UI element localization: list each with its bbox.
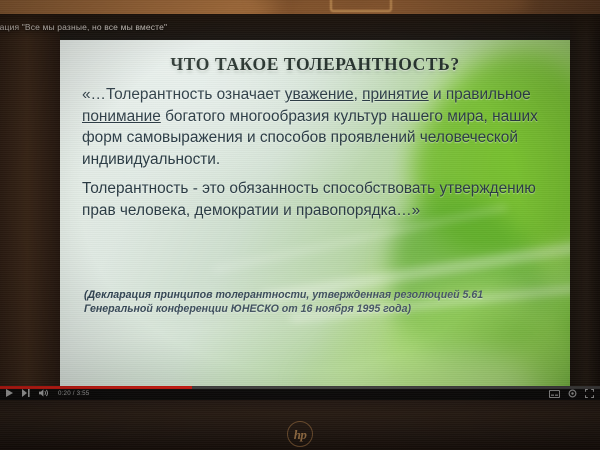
wall-frame (330, 0, 392, 12)
video-player: ЧТО ТАКОЕ ТОЛЕРАНТНОСТЬ? «…Толерантность… (0, 14, 600, 400)
video-title: ентация "Все мы разные, но все мы вместе… (0, 22, 167, 32)
leaf-shape (310, 340, 540, 386)
room-photo: ЧТО ТАКОЕ ТОЛЕРАНТНОСТЬ? «…Толерантность… (0, 0, 600, 450)
slide-citation: (Декларация принципов толерантности, утв… (84, 288, 536, 317)
emphasis-acceptance: принятие (362, 86, 429, 103)
emphasis-understanding: понимание (82, 108, 161, 125)
emphasis-respect: уважение (285, 86, 354, 103)
slide-body: «…Толерантность означает уважение, приня… (82, 84, 552, 221)
letterbox-left (0, 14, 60, 386)
quote-text-part: и правильное (429, 86, 531, 103)
controls-right-group (549, 389, 594, 398)
slide-paragraph-1: «…Толерантность означает уважение, приня… (82, 84, 552, 170)
quote-text-part: , (354, 86, 363, 103)
player-title-bar: ентация "Все мы разные, но все мы вместе… (0, 14, 600, 40)
laptop-screen: ЧТО ТАКОЕ ТОЛЕРАНТНОСТЬ? «…Толерантность… (0, 14, 600, 400)
next-track-icon[interactable] (22, 389, 30, 397)
player-controls: 0:20 / 3:55 (0, 386, 600, 400)
paragraph-spacer (82, 170, 552, 178)
play-icon[interactable] (6, 389, 13, 397)
slide-title: ЧТО ТАКОЕ ТОЛЕРАНТНОСТЬ? (60, 54, 570, 75)
subtitles-icon[interactable] (549, 390, 560, 398)
settings-gear-icon[interactable] (568, 389, 577, 398)
progress-bar-track[interactable] (0, 386, 600, 389)
fullscreen-icon[interactable] (585, 389, 594, 398)
video-canvas[interactable]: ЧТО ТАКОЕ ТОЛЕРАНТНОСТЬ? «…Толерантность… (0, 14, 600, 386)
hp-logo-text: hp (294, 428, 307, 441)
slide-paragraph-2: Толерантность - это обязанность способст… (82, 178, 552, 221)
controls-left-group: 0:20 / 3:55 (6, 389, 89, 397)
hp-logo: hp (287, 421, 313, 447)
letterbox-right (570, 14, 600, 386)
volume-icon[interactable] (39, 389, 49, 397)
quote-text-part: «…Толерантность означает (82, 86, 285, 103)
time-display: 0:20 / 3:55 (58, 390, 89, 397)
presentation-slide: ЧТО ТАКОЕ ТОЛЕРАНТНОСТЬ? «…Толерантность… (60, 40, 570, 386)
